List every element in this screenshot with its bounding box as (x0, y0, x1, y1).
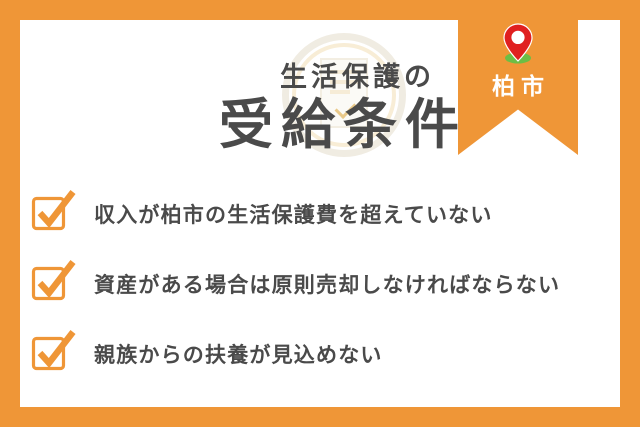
list-item: 収入が柏市の生活保護費を超えていない (20, 180, 620, 250)
checkbox-checked-icon (32, 265, 72, 305)
city-name-label: 柏市 (458, 75, 578, 98)
map-pin-icon (499, 22, 537, 64)
page-title: 受給条件 (219, 98, 467, 152)
page-subtitle: 生活保護の (280, 64, 435, 91)
list-item-label: 資産がある場合は原則売却しなければならない (94, 275, 560, 296)
requirements-list: 収入が柏市の生活保護費を超えていない 資産がある場合は原則売却しなければならない (20, 180, 620, 390)
list-item-label: 収入が柏市の生活保護費を超えていない (94, 205, 493, 226)
checkbox-checked-icon (32, 195, 72, 235)
title-block: 生活保護の 受給条件 (20, 20, 475, 175)
infographic-canvas: 生活保護の 受給条件 収入が柏市の生活保護費を超えていない (0, 0, 640, 427)
list-item: 親族からの扶養が見込めない (20, 320, 620, 390)
list-item: 資産がある場合は原則売却しなければならない (20, 250, 620, 320)
checkbox-checked-icon (32, 335, 72, 375)
list-item-label: 親族からの扶養が見込めない (94, 345, 383, 366)
